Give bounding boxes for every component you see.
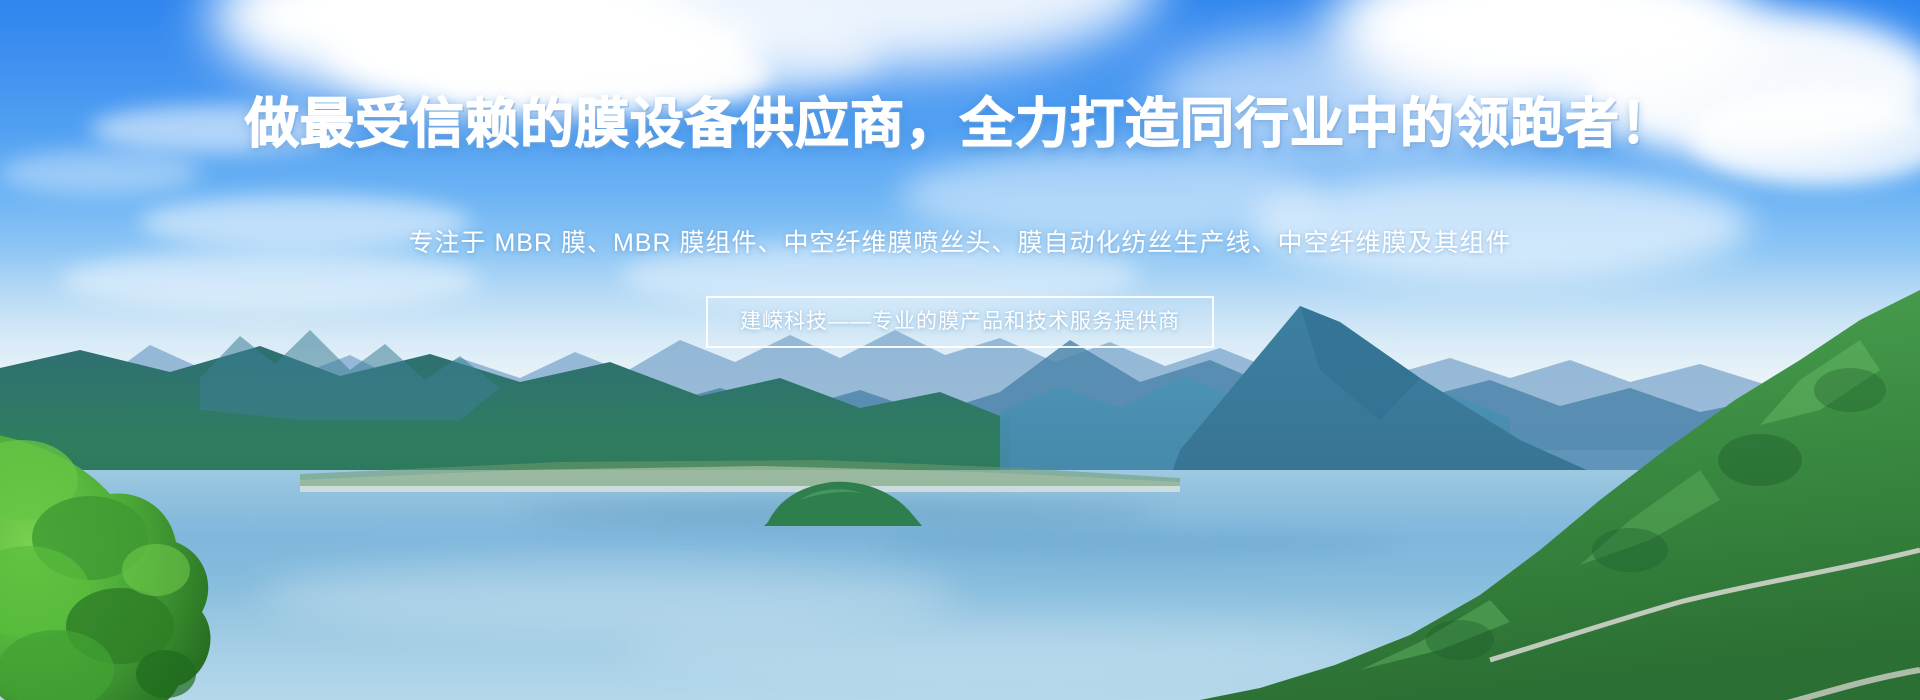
cloud-shape bbox=[140, 195, 470, 250]
water-reflection bbox=[260, 560, 960, 630]
hero-banner: 做最受信赖的膜设备供应商，全力打造同行业中的领跑者！ 专注于 MBR 膜、MBR… bbox=[0, 0, 1920, 700]
cloud-shape bbox=[1150, 30, 1530, 160]
banner-tagline-box[interactable]: 建嵘科技——专业的膜产品和技术服务提供商 bbox=[706, 296, 1214, 348]
right-forested-hill bbox=[1160, 250, 1920, 700]
cloud-shape bbox=[0, 150, 200, 195]
cloud-shape bbox=[560, 15, 880, 95]
foreground-tree-foliage bbox=[0, 430, 300, 700]
small-island bbox=[760, 470, 930, 530]
cloud-shape bbox=[90, 105, 350, 153]
